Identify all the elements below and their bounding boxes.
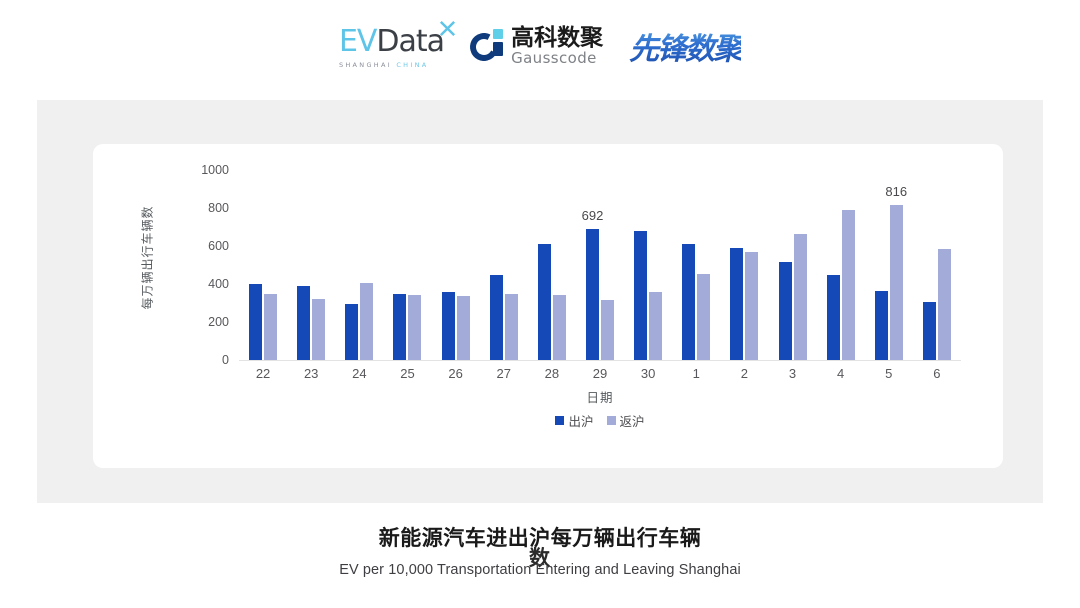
y-tick-label: 0 [177,353,229,367]
bar-出沪-2[interactable] [730,248,743,360]
bar-出沪-23[interactable] [297,286,310,360]
x-tick-label: 30 [641,366,655,381]
y-tick-label: 800 [177,201,229,215]
xianfeng-logo: 先锋数聚 [629,24,741,68]
logo-bar: EVData SHANGHAI CHINA 高科数聚 Gausscode 先锋数… [0,0,1080,92]
evdata-tagline-shanghai: SHANGHAI [339,61,392,69]
bar-group [817,170,865,360]
y-axis-ticks: 10008006004002000 [177,144,229,468]
chart-baseline [239,360,961,361]
bar-出沪-6[interactable] [923,302,936,360]
bar-group [239,170,287,360]
bar-出沪-1[interactable] [682,244,695,360]
bar-出沪-30[interactable] [634,231,647,360]
x-tick-label: 22 [256,366,270,381]
bar-value-label: 692 [582,208,604,223]
bar-出沪-3[interactable] [779,262,792,360]
x-tick-label: 29 [593,366,607,381]
legend-label: 返沪 [620,411,645,430]
bar-返沪-5[interactable]: 816 [890,205,903,360]
gausscode-dark-square [493,42,503,56]
bar-返沪-6[interactable] [938,249,951,360]
x-tick-label: 26 [448,366,462,381]
bar-group [672,170,720,360]
x-tick-label: 3 [789,366,796,381]
bar-group [528,170,576,360]
bar-group: 692 [576,170,624,360]
x-tick-label: 4 [837,366,844,381]
bar-group [432,170,480,360]
x-tick-label: 6 [933,366,940,381]
x-tick-label: 28 [545,366,559,381]
bar-group [383,170,431,360]
gausscode-mark-icon [470,29,504,62]
y-tick-label: 600 [177,239,229,253]
plot-area: 692816 [239,170,961,360]
y-tick-label: 1000 [177,163,229,177]
y-axis-title: 每万辆出行车辆数 [139,198,156,318]
bar-返沪-22[interactable] [264,294,277,360]
bar-group [913,170,961,360]
bar-group [335,170,383,360]
legend-swatch-icon [607,416,616,425]
bar-返沪-29[interactable] [601,300,614,360]
x-tick-label: 24 [352,366,366,381]
bar-出沪-4[interactable] [827,275,840,360]
bar-group [480,170,528,360]
chart-panel: 每万辆出行车辆数 10008006004002000 692816 222324… [37,100,1043,503]
footer-title: 新能源汽车进出沪每万辆出行车辆 [0,522,1080,552]
gausscode-text: 高科数聚 Gausscode [511,26,603,65]
x-tick-label: 27 [496,366,510,381]
gausscode-accent-square [493,29,503,39]
evdata-tagline-china: CHINA [396,61,428,69]
bar-返沪-4[interactable] [842,210,855,360]
x-tick-label: 2 [741,366,748,381]
evdata-wordmark: EVData [339,24,444,59]
bar-group [624,170,672,360]
bar-返沪-24[interactable] [360,283,373,360]
bar-出沪-27[interactable] [490,275,503,361]
evdata-logo: EVData SHANGHAI CHINA [339,24,444,69]
bar-出沪-26[interactable] [442,292,455,360]
y-tick-label: 400 [177,277,229,291]
x-tick-label: 5 [885,366,892,381]
bar-value-label: 816 [885,184,907,199]
bar-出沪-22[interactable] [249,284,262,360]
bar-group [287,170,335,360]
x-tick-label: 25 [400,366,414,381]
bar-返沪-2[interactable] [745,252,758,360]
bar-出沪-5[interactable] [875,291,888,360]
legend-label: 出沪 [568,411,593,430]
x-axis-ticks: 222324252627282930123456 [239,366,961,386]
legend-item-出沪[interactable]: 出沪 [555,411,593,430]
bar-返沪-30[interactable] [649,292,662,360]
bar-返沪-3[interactable] [794,234,807,360]
gausscode-logo: 高科数聚 Gausscode [470,26,603,65]
x-tick-label: 23 [304,366,318,381]
evdata-ev-text: EV [339,24,376,59]
legend-item-返沪[interactable]: 返沪 [607,411,645,430]
bar-返沪-23[interactable] [312,299,325,360]
evdata-data-text: Data [376,24,444,59]
chart-card: 每万辆出行车辆数 10008006004002000 692816 222324… [93,144,1003,468]
x-tick-label: 1 [693,366,700,381]
bar-出沪-28[interactable] [538,244,551,360]
chart-legend: 出沪返沪 [239,411,961,430]
bar-返沪-27[interactable] [505,294,518,360]
bar-出沪-24[interactable] [345,304,358,360]
bar-返沪-25[interactable] [408,295,421,360]
bar-出沪-29[interactable]: 692 [586,229,599,360]
footer-subtitle: EV per 10,000 Transportation Entering an… [0,562,1080,578]
bar-group [720,170,768,360]
bar-返沪-26[interactable] [457,296,470,360]
bar-chart: 每万辆出行车辆数 10008006004002000 692816 222324… [93,144,1003,468]
y-tick-label: 200 [177,315,229,329]
bar-返沪-1[interactable] [697,274,710,360]
footer: 数 新能源汽车进出沪每万辆出行车辆 EV per 10,000 Transpor… [0,522,1080,578]
x-mark-icon [438,19,457,38]
evdata-tagline: SHANGHAI CHINA [339,61,429,69]
bar-group [768,170,816,360]
bar-group: 816 [865,170,913,360]
legend-swatch-icon [555,416,564,425]
gausscode-chinese-name: 高科数聚 [511,26,603,50]
bar-返沪-28[interactable] [553,295,566,360]
gausscode-english-name: Gausscode [511,51,603,66]
bar-出沪-25[interactable] [393,294,406,360]
x-axis-title: 日期 [239,387,961,406]
